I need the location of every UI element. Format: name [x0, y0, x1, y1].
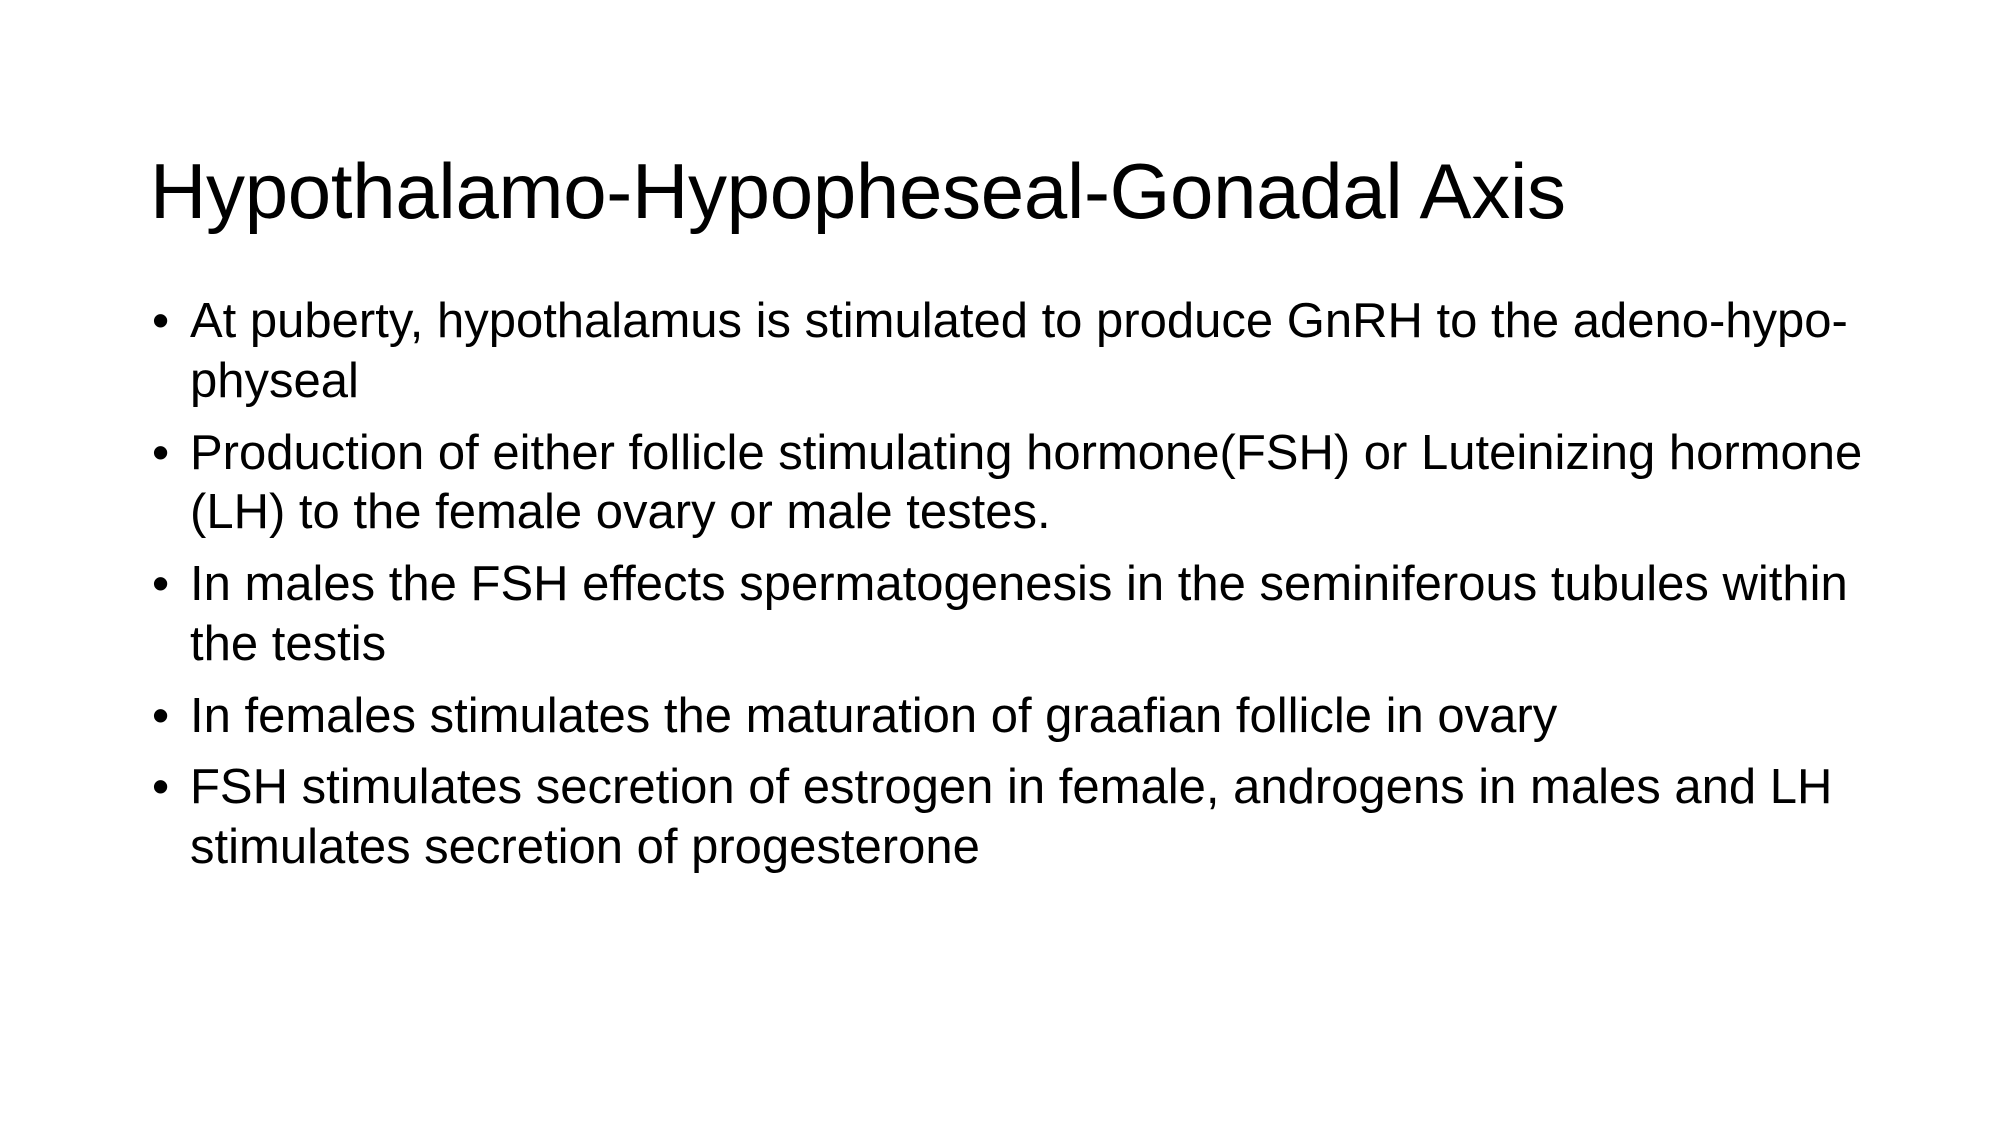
bullet-item-text: FSH stimulates secretion of estrogen in … [190, 758, 1880, 878]
presentation-slide: Hypothalamo-Hypopheseal-Gonadal Axis • A… [0, 0, 2000, 1125]
bullet-item: • In males the FSH effects spermatogenes… [150, 555, 1880, 675]
slide-body: • At puberty, hypothalamus is stimulated… [150, 292, 1880, 878]
bullet-point-icon: • [152, 687, 169, 747]
bullet-point-icon: • [152, 424, 169, 484]
bullet-item: • FSH stimulates secretion of estrogen i… [150, 758, 1880, 878]
bullet-list: • At puberty, hypothalamus is stimulated… [150, 292, 1880, 878]
bullet-point-icon: • [152, 292, 169, 352]
bullet-item-text: Production of either follicle stimulatin… [190, 424, 1880, 544]
bullet-item: • In females stimulates the maturation o… [150, 687, 1880, 747]
bullet-point-icon: • [152, 555, 169, 615]
bullet-item: • At puberty, hypothalamus is stimulated… [150, 292, 1880, 412]
bullet-item-text: In females stimulates the maturation of … [190, 687, 1880, 747]
bullet-item: • Production of either follicle stimulat… [150, 424, 1880, 544]
bullet-point-icon: • [152, 758, 169, 818]
bullet-item-text: In males the FSH effects spermatogenesis… [190, 555, 1880, 675]
slide-title: Hypothalamo-Hypopheseal-Gonadal Axis [150, 148, 1870, 235]
bullet-item-text: At puberty, hypothalamus is stimulated t… [190, 292, 1880, 412]
